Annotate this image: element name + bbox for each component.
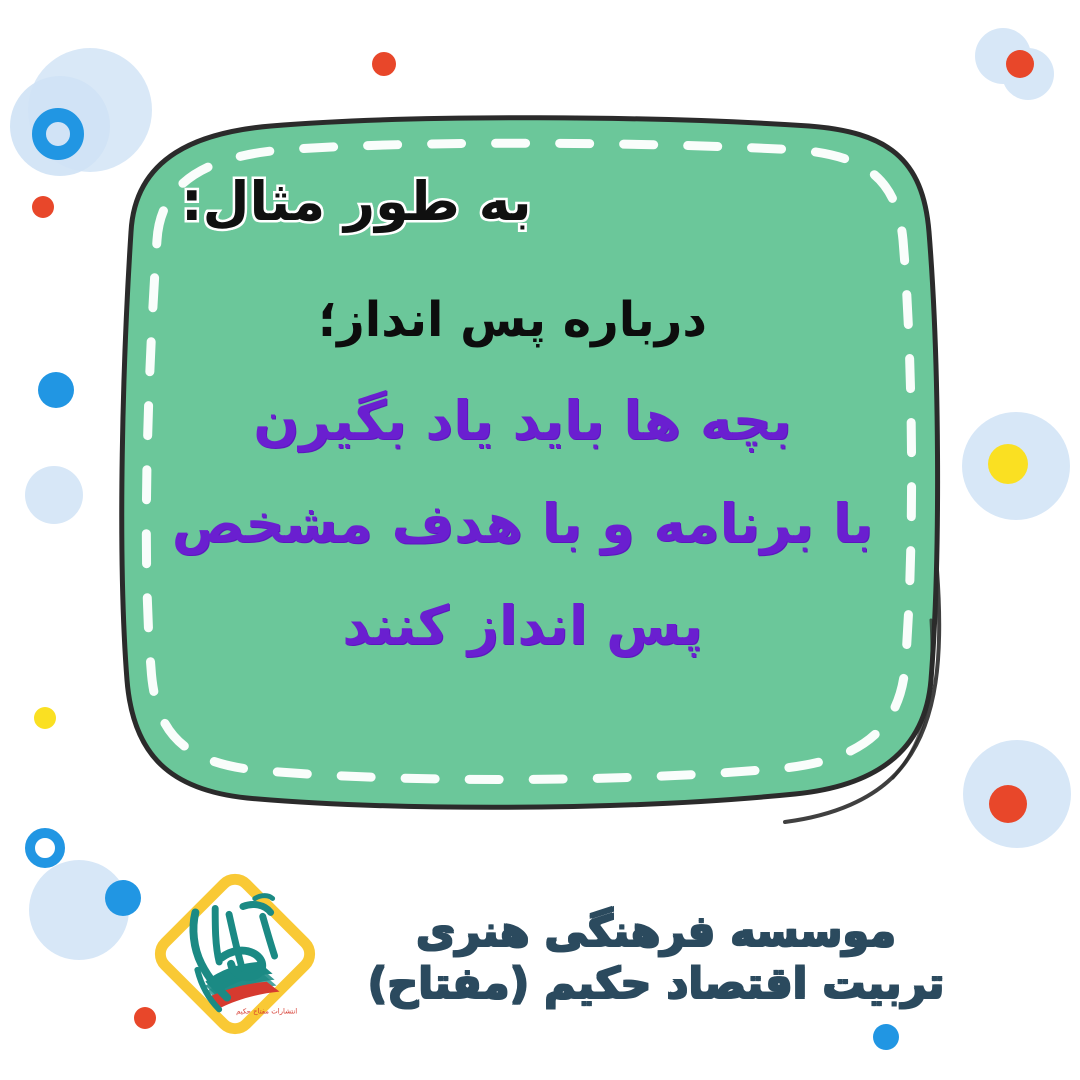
pale-blue-circle-top-right-a	[975, 28, 1031, 84]
pale-blue-circle-right-mid	[962, 412, 1070, 520]
orange-dot-bottom-right	[989, 785, 1027, 823]
poster-canvas: به طور مثال: درباره پس انداز؛ بچه ها بای…	[0, 0, 1080, 1080]
blue-ring-top-left	[32, 108, 84, 160]
orange-dot-top-center	[372, 52, 396, 76]
footer-bar: موسسه فرهنگی هنری تربیت اقتصاد حکیم (مفت…	[0, 864, 1080, 1044]
logo-caption: انتشارات مفتاح حکیم	[236, 1007, 297, 1015]
blue-ring-left-lower	[25, 828, 65, 868]
yellow-dot-right-mid	[988, 444, 1028, 484]
pale-blue-circle-left-mid	[25, 466, 83, 524]
card-subheading: درباره پس انداز؛	[153, 295, 892, 345]
pale-blue-circle-bottom-right	[963, 740, 1071, 848]
logo-artwork: انتشارات مفتاح حکیم	[136, 855, 334, 1053]
yellow-dot-left-lower	[34, 707, 56, 729]
card-body-line-3: پس انداز کنند	[153, 598, 892, 655]
blue-dot-left-mid	[38, 372, 74, 408]
card-text-content: به طور مثال: درباره پس انداز؛ بچه ها بای…	[95, 100, 950, 825]
pale-blue-circle-top-right-b	[1002, 48, 1054, 100]
org-name-line-2: تربیت اقتصاد حکیم (مفتاح)	[368, 958, 945, 1010]
card-body-line-1: بچه ها باید یاد بگیرن	[153, 393, 892, 450]
card-heading: به طور مثال:	[153, 174, 892, 231]
organization-name: موسسه فرهنگی هنری تربیت اقتصاد حکیم (مفت…	[368, 906, 945, 1011]
card-body-line-2: با برنامه و با هدف مشخص	[153, 496, 892, 553]
orange-dot-left-upper	[32, 196, 54, 218]
orange-dot-top-right	[1006, 50, 1034, 78]
green-card: به طور مثال: درباره پس انداز؛ بچه ها بای…	[95, 100, 950, 825]
publisher-logo[interactable]: انتشارات مفتاح حکیم	[136, 855, 334, 1053]
org-name-line-1: موسسه فرهنگی هنری	[368, 906, 945, 958]
